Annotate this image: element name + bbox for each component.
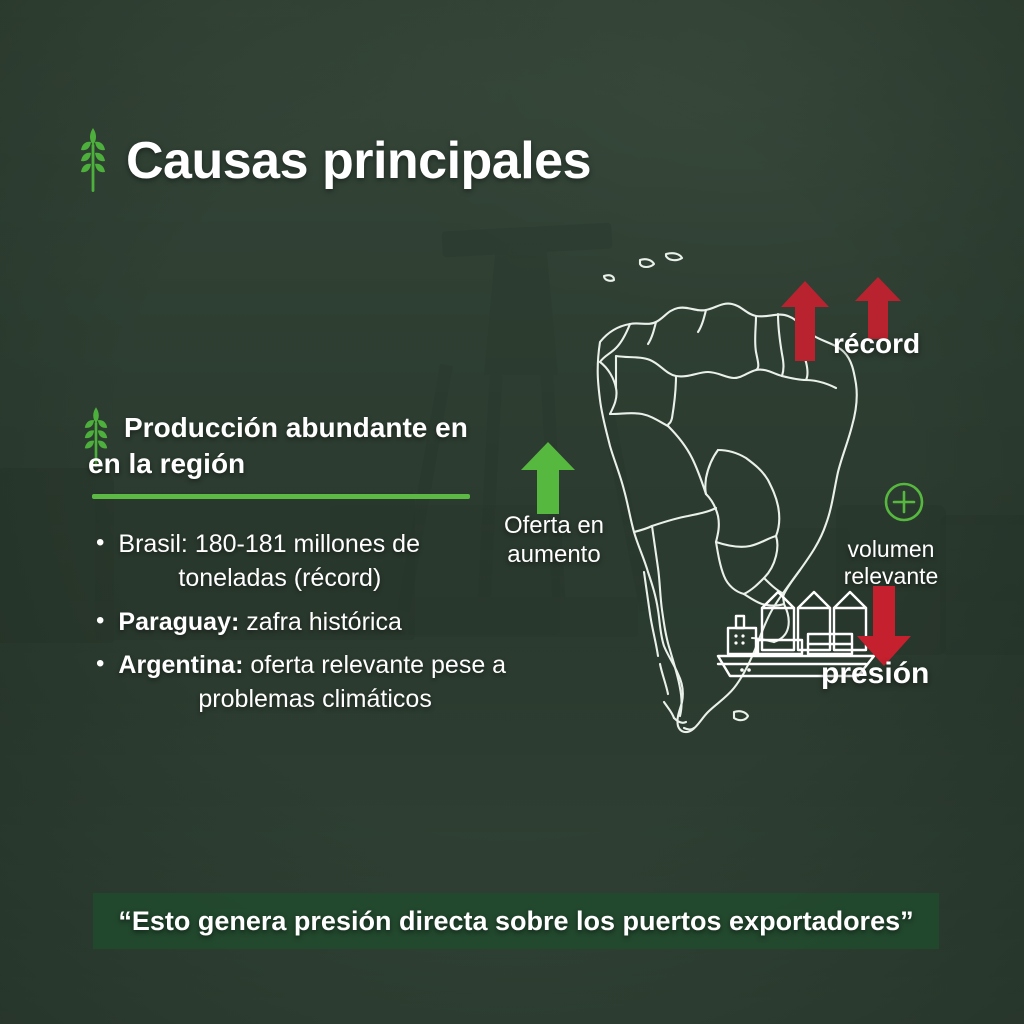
- pressure-label: presión: [821, 657, 929, 691]
- arrow-down-red-icon: [857, 586, 911, 666]
- bullet-value: zafra histórica: [246, 608, 402, 636]
- section-heading: Producción abundante en en la región: [124, 410, 468, 482]
- plus-circle-icon: [882, 480, 926, 524]
- bullet-label: Paraguay:: [118, 608, 239, 636]
- bullet-label: Brasil:: [118, 530, 187, 558]
- infographic-canvas: Causas principales: [0, 0, 1024, 1024]
- arrow-up-red-icon: [781, 281, 829, 361]
- list-item: • Brasil: 180-181 millones de toneladas …: [96, 528, 516, 596]
- bullet-label: Argentina:: [118, 651, 243, 679]
- bullet-list: • Brasil: 180-181 millones de toneladas …: [96, 528, 516, 727]
- volume-label: volumen relevante: [826, 536, 956, 590]
- quote-text: “Esto genera presión directa sobre los p…: [118, 906, 913, 937]
- bullet-value: oferta relevante pese a: [250, 651, 506, 679]
- bullet-dot-icon: •: [96, 651, 104, 677]
- bullet-text: Brasil: 180-181 millones de toneladas (r…: [118, 528, 420, 596]
- bullet-value-continued: problemas climáticos: [118, 683, 506, 717]
- bullet-dot-icon: •: [96, 530, 104, 556]
- volume-label-line-1: volumen: [848, 536, 935, 562]
- supply-label: Oferta en aumento: [489, 512, 619, 570]
- quote-banner: “Esto genera presión directa sobre los p…: [93, 893, 939, 949]
- list-item: • Argentina: oferta relevante pese a pro…: [96, 649, 516, 717]
- arrow-up-green-icon: [521, 442, 575, 514]
- section-divider: [92, 494, 470, 499]
- record-label: récord: [833, 328, 920, 360]
- bullet-value-continued: toneladas (récord): [118, 562, 420, 596]
- supply-label-line-2: aumento: [507, 541, 600, 568]
- bullet-text: Paraguay: zafra histórica: [118, 606, 401, 640]
- section-heading-line-2: en la región: [88, 446, 468, 482]
- section-heading-line-1: Producción abundante en: [124, 412, 468, 443]
- bullet-value: 180-181 millones de: [195, 530, 420, 558]
- bullet-text: Argentina: oferta relevante pese a probl…: [118, 649, 506, 717]
- list-item: • Paraguay: zafra histórica: [96, 606, 516, 640]
- section-heading-row: Producción abundante en en la región: [82, 404, 552, 482]
- page-title-row: Causas principales: [78, 126, 591, 196]
- wheat-icon: [78, 126, 108, 196]
- page-title: Causas principales: [126, 131, 591, 191]
- supply-label-line-1: Oferta en: [504, 512, 604, 539]
- bullet-dot-icon: •: [96, 608, 104, 634]
